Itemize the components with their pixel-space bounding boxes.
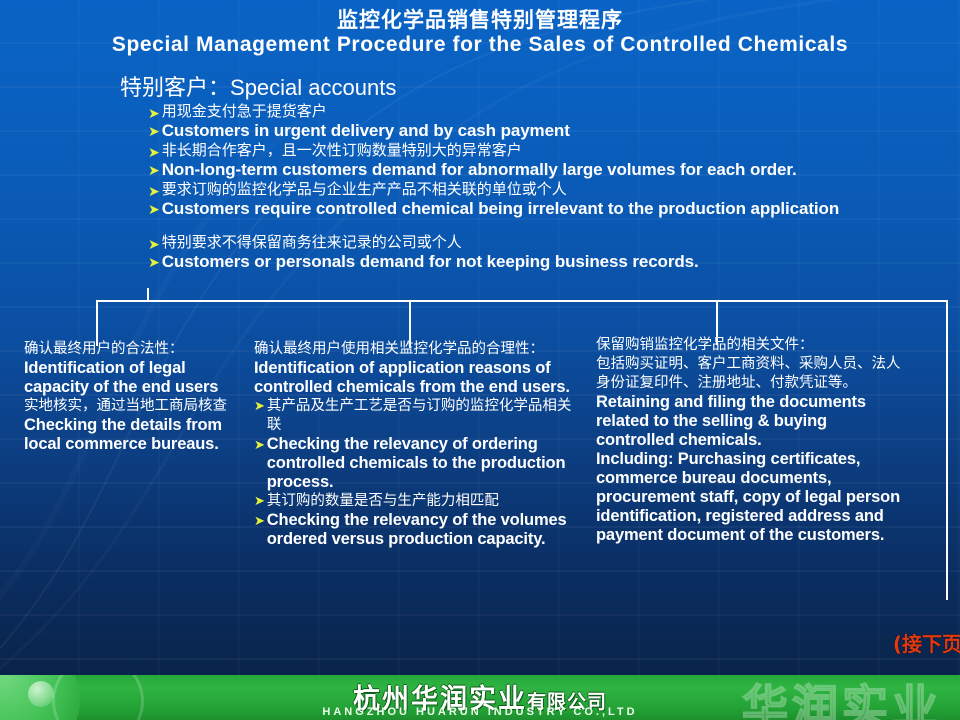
continued-note: (接下页 bbox=[893, 628, 960, 657]
bullet-text: 用现金支付急于提货客户 bbox=[162, 104, 327, 120]
arrow-bullet-icon: ➤ bbox=[254, 397, 265, 413]
arrow-bullet-icon: ➤ bbox=[148, 200, 160, 216]
bullet-text: Customers in urgent delivery and by cash… bbox=[162, 122, 570, 140]
bullet-item: ➤Customers or personals demand for not k… bbox=[148, 253, 960, 271]
bullet-item: ➤Customers in urgent delivery and by cas… bbox=[148, 122, 960, 140]
connector-drop-right bbox=[946, 300, 948, 600]
column-paragraph: Retaining and filing the documents relat… bbox=[596, 393, 908, 450]
bullet-text: Customers or personals demand for not ke… bbox=[162, 253, 699, 271]
arrow-bullet-icon: ➤ bbox=[148, 253, 160, 269]
bullet-text: 非长期合作客户，且一次性订购数量特别大的异常客户 bbox=[162, 143, 522, 159]
bullet-item: ➤特别要求不得保留商务往来记录的公司或个人 bbox=[148, 235, 960, 251]
bullet-item: ➤Non-long-term customers demand for abno… bbox=[148, 161, 960, 179]
column-bullet-text: 其订购的数量是否与生产能力相匹配 bbox=[267, 492, 584, 511]
column-application-reasons: 确认最终用户使用相关监控化学品的合理性：Identification of ap… bbox=[254, 340, 584, 549]
arrow-bullet-icon: ➤ bbox=[148, 104, 160, 120]
bullet-item: ➤Customers require controlled chemical b… bbox=[148, 200, 960, 218]
column-bullet-text: Checking the relevancy of ordering contr… bbox=[267, 435, 584, 492]
section-subheading: 特别客户：Special accounts bbox=[120, 70, 396, 102]
column-paragraph: Identification of legal capacity of the … bbox=[24, 359, 236, 397]
column-bullet-item: ➤Checking the relevancy of the volumes o… bbox=[254, 511, 584, 549]
column-paragraph: 保留购销监控化学品的相关文件： bbox=[596, 336, 908, 355]
page-title-english: Special Management Procedure for the Sal… bbox=[0, 33, 960, 57]
arrow-bullet-icon: ➤ bbox=[148, 122, 160, 138]
section-subheading-english: Special accounts bbox=[230, 75, 396, 100]
column-paragraph: Checking the details from local commerce… bbox=[24, 416, 236, 454]
bullet-text: Non-long-term customers demand for abnor… bbox=[162, 161, 797, 179]
arrow-bullet-icon: ➤ bbox=[254, 492, 265, 508]
column-bullet-item: ➤Checking the relevancy of ordering cont… bbox=[254, 435, 584, 492]
arrow-bullet-icon: ➤ bbox=[148, 161, 160, 177]
column-paragraph: Identification of application reasons of… bbox=[254, 359, 584, 397]
column-paragraph: 实地核实，通过当地工商局核查 bbox=[24, 397, 236, 416]
arrow-bullet-icon: ➤ bbox=[148, 235, 160, 251]
column-paragraph: 确认最终用户的合法性： bbox=[24, 340, 236, 359]
column-bullet-item: ➤其产品及生产工艺是否与订购的监控化学品相关联 bbox=[254, 397, 584, 435]
bullet-text: Customers require controlled chemical be… bbox=[162, 200, 839, 218]
column-paragraph: 包括购买证明、客户工商资料、采购人员、法人身份证复印件、注册地址、付款凭证等。 bbox=[596, 355, 908, 393]
page-title-chinese: 监控化学品销售特别管理程序 bbox=[0, 4, 960, 34]
arrow-bullet-icon: ➤ bbox=[148, 143, 160, 159]
column-bullet-item: ➤其订购的数量是否与生产能力相匹配 bbox=[254, 492, 584, 511]
connector-horizontal-bar bbox=[96, 300, 948, 302]
slide-canvas: 监控化学品销售特别管理程序 Special Management Procedu… bbox=[0, 0, 960, 720]
bullet-item: ➤用现金支付急于提货客户 bbox=[148, 104, 960, 120]
arrow-bullet-icon: ➤ bbox=[254, 511, 265, 527]
bullet-spacer bbox=[148, 221, 960, 228]
column-bullet-text: Checking the relevancy of the volumes or… bbox=[267, 511, 584, 549]
special-accounts-bullet-list: ➤用现金支付急于提货客户➤Customers in urgent deliver… bbox=[148, 104, 960, 274]
footer-company-name-english: HANGZHOU HUARUN INDUSTRY CO.,LTD bbox=[0, 706, 960, 718]
section-subheading-chinese: 特别客户： bbox=[120, 76, 230, 101]
column-document-retention: 保留购销监控化学品的相关文件：包括购买证明、客户工商资料、采购人员、法人身份证复… bbox=[596, 336, 908, 546]
bullet-text: 要求订购的监控化学品与企业生产产品不相关联的单位或个人 bbox=[162, 182, 567, 198]
arrow-bullet-icon: ➤ bbox=[254, 435, 265, 451]
footer-company-banner: 华润实业 杭州华润实业有限公司 HANGZHOU HUARUN INDUSTRY… bbox=[0, 675, 960, 720]
bullet-item: ➤非长期合作客户，且一次性订购数量特别大的异常客户 bbox=[148, 143, 960, 159]
column-legal-capacity: 确认最终用户的合法性：Identification of legal capac… bbox=[24, 340, 236, 454]
column-paragraph: 确认最终用户使用相关监控化学品的合理性： bbox=[254, 340, 584, 359]
column-paragraph: Including: Purchasing certificates, comm… bbox=[596, 450, 908, 546]
bullet-item: ➤要求订购的监控化学品与企业生产产品不相关联的单位或个人 bbox=[148, 182, 960, 198]
arrow-bullet-icon: ➤ bbox=[148, 182, 160, 198]
bullet-text: 特别要求不得保留商务往来记录的公司或个人 bbox=[162, 235, 462, 251]
column-bullet-text: 其产品及生产工艺是否与订购的监控化学品相关联 bbox=[267, 397, 584, 435]
